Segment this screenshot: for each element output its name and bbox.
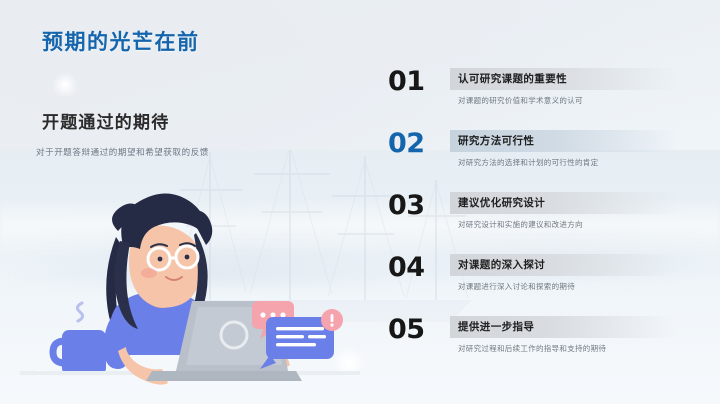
alert-badge-icon bbox=[321, 309, 343, 331]
list-item[interactable]: 01 认可研究课题的重要性 对课题的研究价值和学术意义的认可 bbox=[388, 62, 688, 124]
list-item-title: 认可研究课题的重要性 bbox=[458, 71, 567, 86]
list-item-desc: 对研究过程和后续工作的指导和支持的期待 bbox=[458, 343, 606, 354]
list-item-number: 04 bbox=[388, 252, 444, 283]
list-item-desc: 对课题的研究价值和学术意义的认可 bbox=[458, 95, 583, 106]
list-item-desc: 对研究方法的选择和计划的可行性的肯定 bbox=[458, 157, 598, 168]
list-item-number: 05 bbox=[388, 314, 444, 345]
list-item-title: 研究方法可行性 bbox=[458, 133, 534, 148]
illustration-woman-at-laptop bbox=[20, 175, 360, 404]
list-item[interactable]: 02 研究方法可行性 对研究方法的选择和计划的可行性的肯定 bbox=[388, 124, 688, 186]
list-item[interactable]: 04 对课题的深入探讨 对课题进行深入讨论和探索的期待 bbox=[388, 248, 688, 310]
list-item-title: 建议优化研究设计 bbox=[458, 195, 545, 210]
list-item-desc: 对研究设计和实施的建议和改进方向 bbox=[458, 219, 583, 230]
expectation-list: 01 认可研究课题的重要性 对课题的研究价值和学术意义的认可 02 研究方法可行… bbox=[388, 62, 688, 372]
list-item-desc: 对课题进行深入讨论和探索的期待 bbox=[458, 281, 575, 292]
slide-lede: 对于开题答辩通过的期望和希望获取的反馈 bbox=[36, 146, 209, 158]
list-item-number: 02 bbox=[388, 128, 444, 159]
list-item-number: 03 bbox=[388, 190, 444, 221]
list-item-title: 提供进一步指导 bbox=[458, 319, 534, 334]
slide-title: 预期的光芒在前 bbox=[42, 26, 200, 56]
slide-heading: 开题通过的期待 bbox=[42, 108, 169, 133]
list-item-number: 01 bbox=[388, 66, 444, 97]
list-item[interactable]: 03 建议优化研究设计 对研究设计和实施的建议和改进方向 bbox=[388, 186, 688, 248]
list-item-title: 对课题的深入探讨 bbox=[458, 257, 545, 272]
coffee-mug-icon bbox=[53, 303, 106, 375]
list-item[interactable]: 05 提供进一步指导 对研究过程和后续工作的指导和支持的期待 bbox=[388, 310, 688, 372]
sparkle-dot-top bbox=[63, 82, 67, 86]
slide-canvas: 预期的光芒在前 开题通过的期待 对于开题答辩通过的期望和希望获取的反馈 bbox=[0, 0, 720, 404]
